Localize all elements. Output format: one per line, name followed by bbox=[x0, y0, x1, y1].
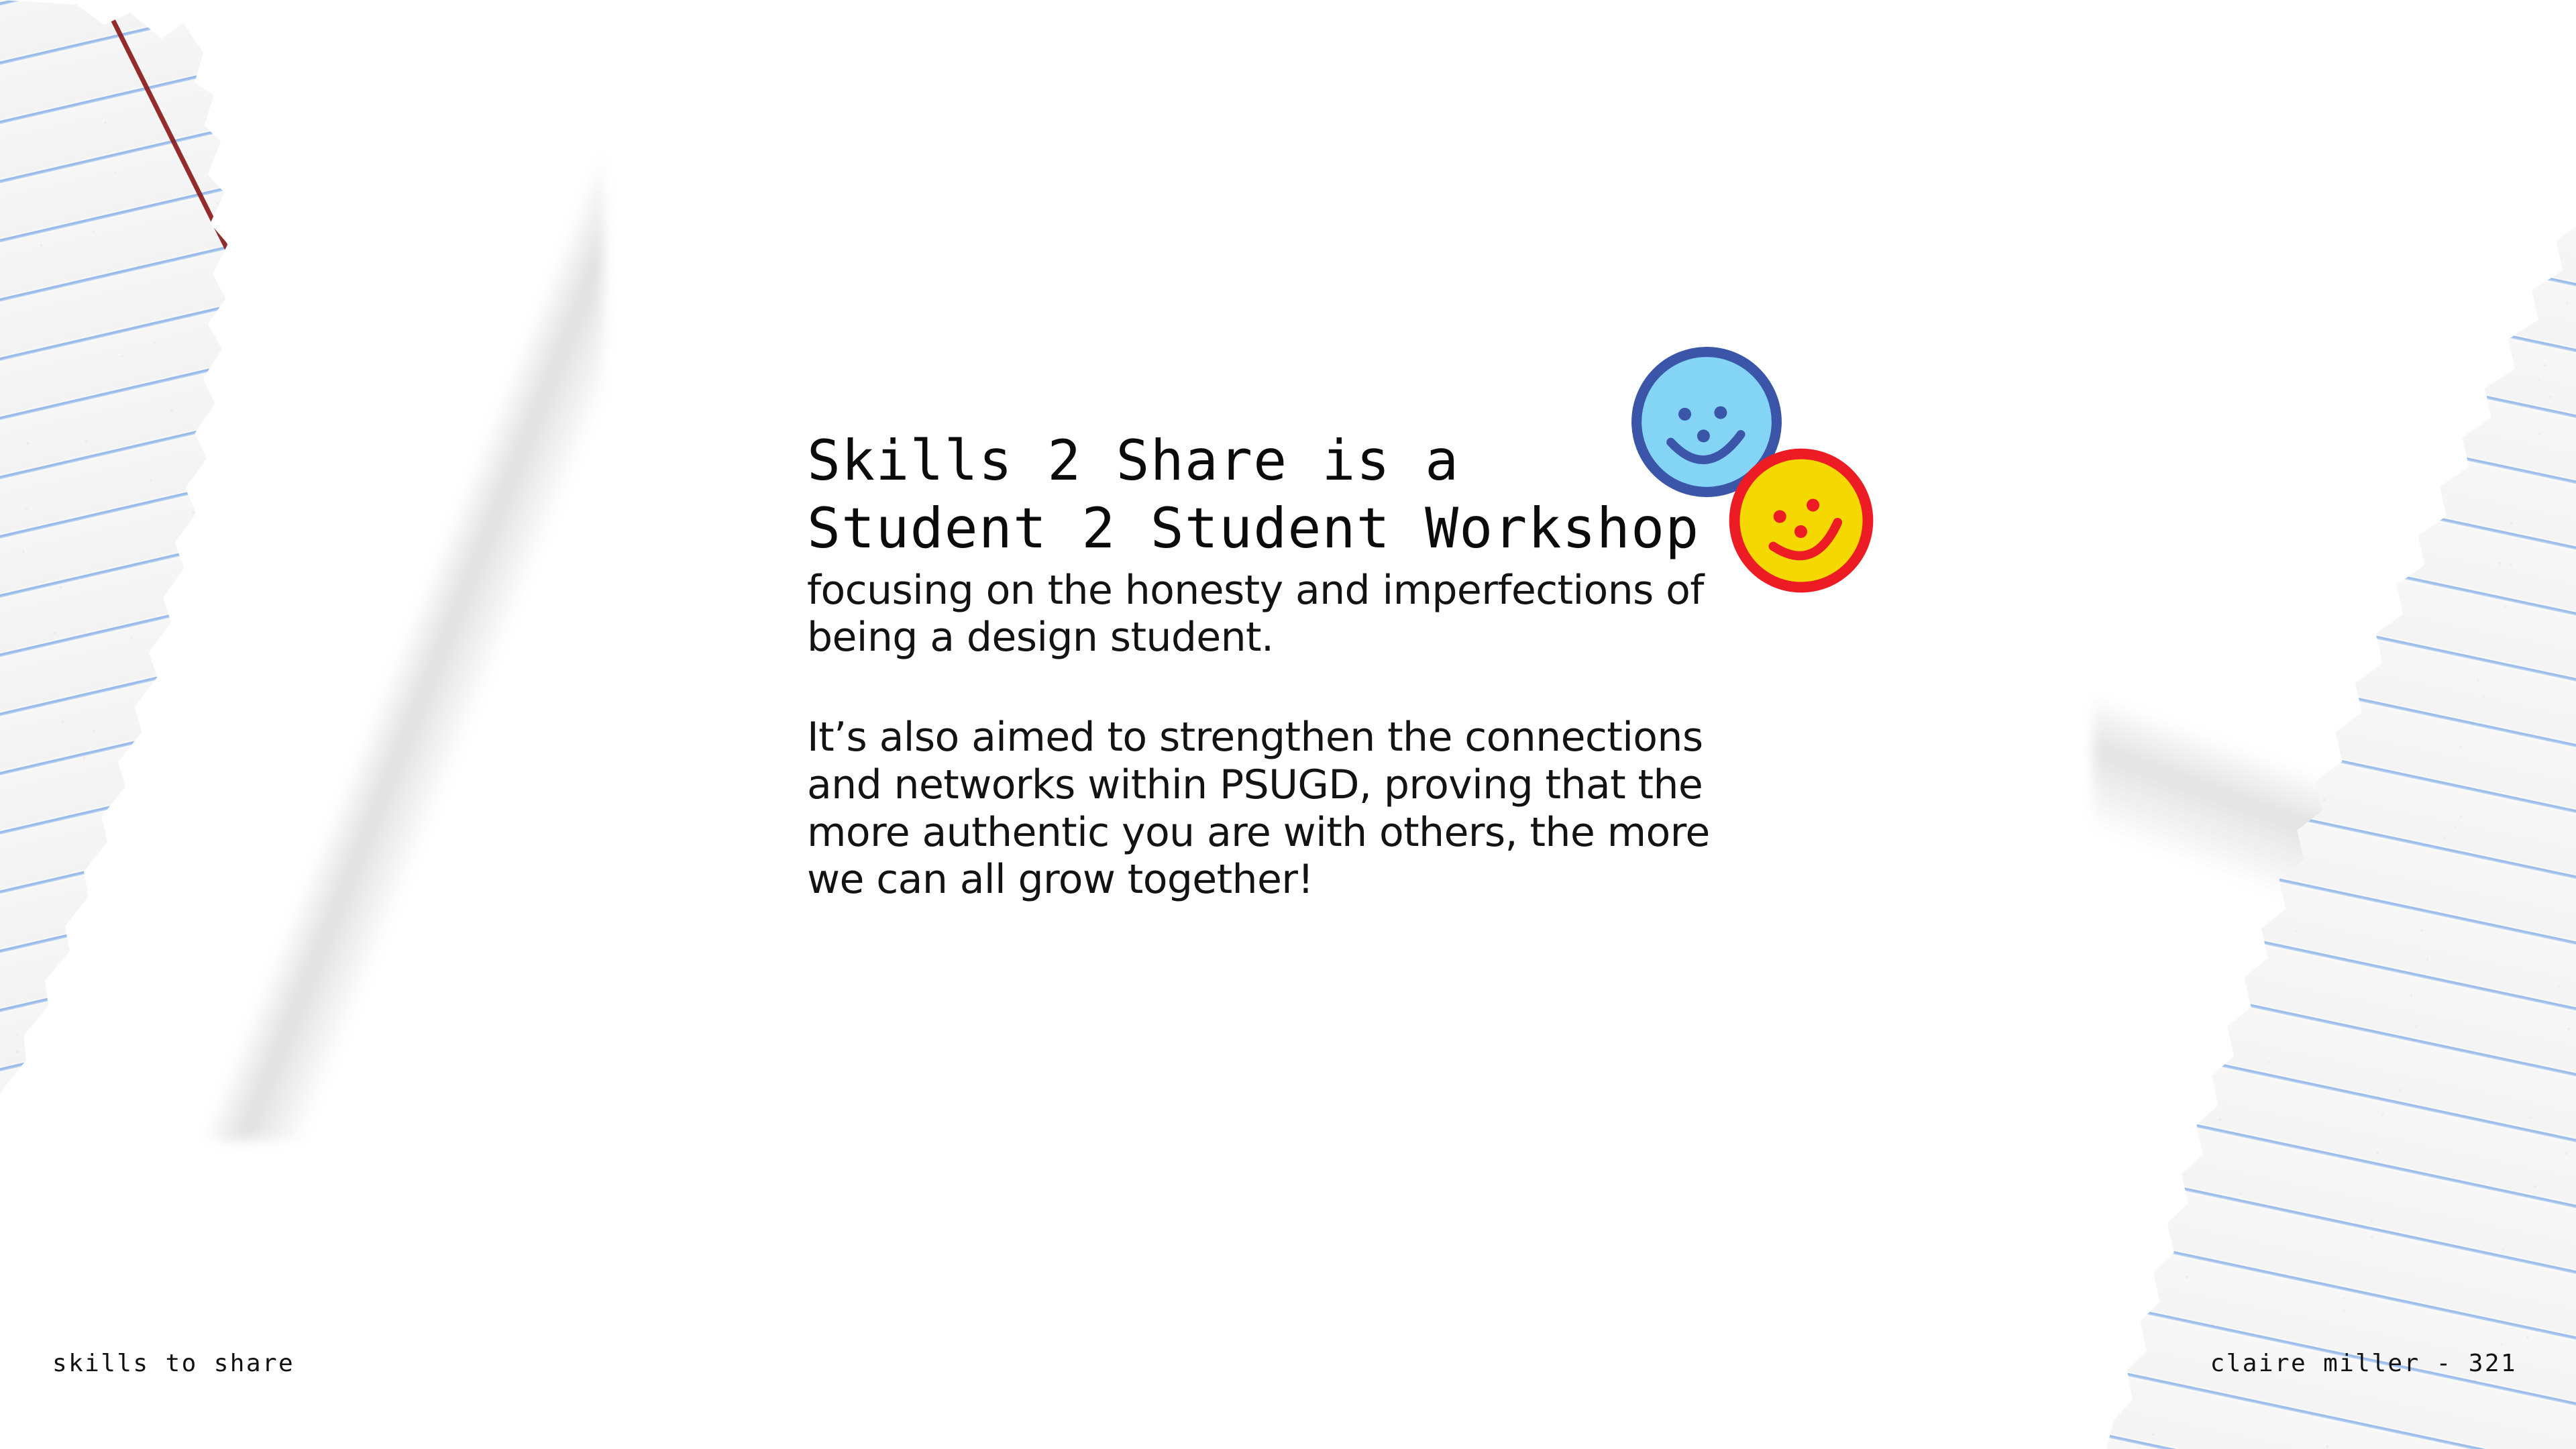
slide-canvas: Skills 2 Share is a Student 2 Student Wo… bbox=[0, 0, 2576, 1449]
smiley-faces-group bbox=[1617, 332, 1898, 614]
headline-line-1: Skills 2 Share is a bbox=[807, 428, 1459, 493]
torn-lined-paper-left bbox=[0, 0, 590, 1140]
paper-right-tear-shadow bbox=[2093, 221, 2576, 1449]
paper-margin-rule-icon bbox=[98, 0, 231, 254]
footer-author-label: claire miller - 321 bbox=[2210, 1350, 2517, 1377]
footer-project-label: skills to share bbox=[52, 1350, 294, 1377]
paper-left-tear-shadow bbox=[0, 0, 604, 1140]
torn-lined-paper-right bbox=[2106, 221, 2576, 1449]
paper-ruling-left bbox=[0, 0, 590, 1140]
yellow-smiley-face-icon bbox=[1725, 445, 1877, 596]
headline-line-2: Student 2 Student Workshop bbox=[807, 496, 1699, 561]
paper-ruling-right bbox=[2106, 221, 2576, 1449]
paragraph-connections: It’s also aimed to strengthen the connec… bbox=[807, 714, 1760, 904]
